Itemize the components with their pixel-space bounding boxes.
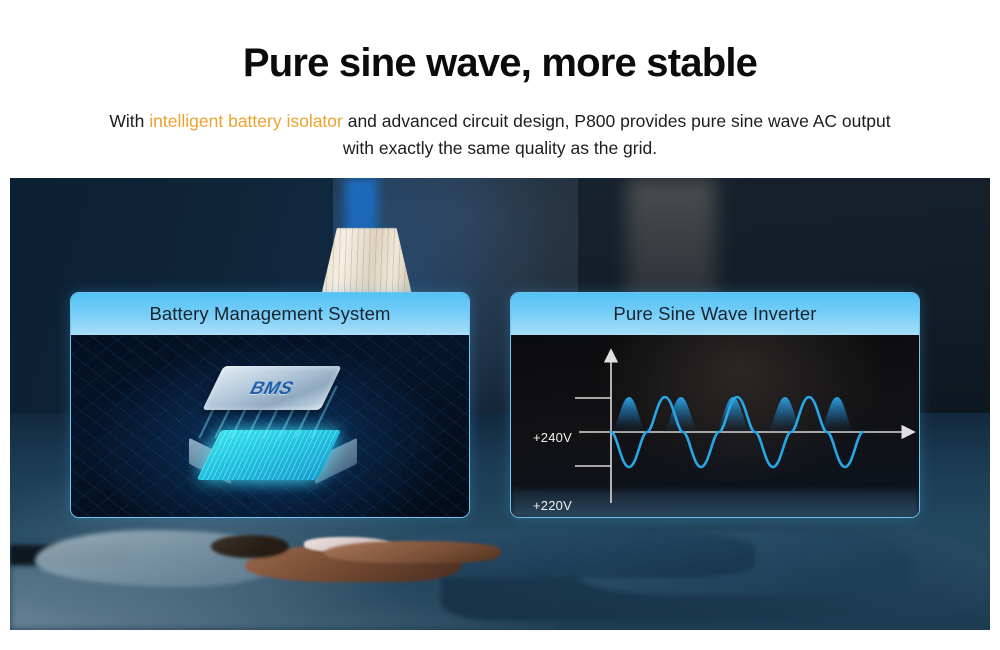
card-pure-sine-wave-inverter: Pure Sine Wave Inverter: [510, 292, 920, 518]
card-body-bms: BMS: [71, 335, 469, 518]
lamp-shade-pleats: [322, 228, 412, 294]
page-title: Pure sine wave, more stable: [0, 40, 1000, 86]
card-header-inverter: Pure Sine Wave Inverter: [511, 293, 919, 335]
page-subtitle: With intelligent battery isolator and ad…: [100, 108, 900, 162]
chip-label-bms: BMS: [202, 366, 341, 410]
axis-label-240v: +240V: [533, 430, 572, 445]
sine-wave-chart: [511, 335, 919, 518]
sleeping-person-forearm: [324, 541, 500, 563]
promo-page: Pure sine wave, more stable With intelli…: [0, 0, 1000, 650]
card-title-bms: Battery Management System: [149, 303, 390, 325]
card-title-inverter: Pure Sine Wave Inverter: [613, 303, 816, 325]
card-battery-management-system: Battery Management System BMS: [70, 292, 470, 518]
subtitle-text-after: and advanced circuit design, P800 provid…: [343, 111, 891, 158]
axis-label-220v: +220V: [533, 498, 572, 513]
card-body-inverter: +240V +220V: [511, 335, 919, 518]
subtitle-highlight: intelligent battery isolator: [149, 111, 343, 131]
bms-chip-illustration: BMS: [165, 352, 375, 502]
subtitle-text-before: With: [109, 111, 149, 131]
card-header-bms: Battery Management System: [71, 293, 469, 335]
